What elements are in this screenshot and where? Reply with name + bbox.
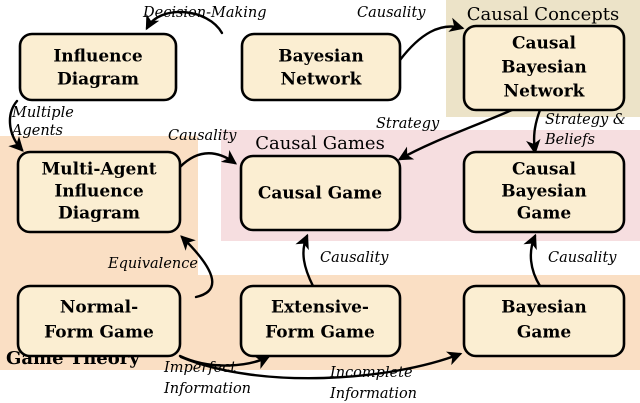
node-causal-game[interactable]: Causal Game [241, 156, 400, 230]
node-bayesian-game-label-1: Bayesian [501, 298, 586, 318]
node-influence-diagram-box[interactable] [20, 34, 176, 100]
edge-label-incomplete-information-1: Incomplete [329, 365, 413, 381]
edge-label-causality-bn-cbn: Causality [357, 5, 426, 21]
node-extensive-form-game-label-2: Form Game [265, 323, 375, 343]
node-normal-form-game[interactable]: Normal- Form Game [18, 286, 180, 356]
diagram-canvas: Causal Concepts Causal Games Game Theory… [0, 0, 640, 403]
node-causal-bayesian-network-label-3: Network [504, 82, 586, 102]
edge-label-causality-efg-cg: Causality [320, 250, 389, 266]
node-multi-agent-influence-diagram-label-2: Influence [54, 182, 144, 202]
node-bayesian-network-label-2: Network [281, 70, 363, 90]
node-influence-diagram[interactable]: Influence Diagram [20, 34, 176, 100]
edge-label-imperfect-information-2: Information [163, 381, 251, 397]
node-influence-diagram-label-1: Influence [53, 47, 143, 67]
node-bayesian-network-label-1: Bayesian [278, 47, 363, 67]
node-bayesian-network[interactable]: Bayesian Network [242, 34, 400, 100]
edge-label-incomplete-information-2: Information [329, 386, 417, 402]
node-causal-game-label-1: Causal Game [258, 184, 382, 204]
node-extensive-form-game[interactable]: Extensive- Form Game [241, 286, 400, 356]
node-multi-agent-influence-diagram[interactable]: Multi-Agent Influence Diagram [18, 152, 180, 232]
node-causal-bayesian-game[interactable]: Causal Bayesian Game [464, 152, 624, 232]
causal-games-diagram: Causal Concepts Causal Games Game Theory… [0, 0, 640, 403]
region-title-causal-games: Causal Games [255, 133, 385, 154]
edge-label-strategy-beliefs-1: Strategy & [545, 112, 626, 128]
node-causal-bayesian-game-label-1: Causal [512, 160, 576, 180]
edge-label-causality-bg-cbg: Causality [548, 250, 617, 266]
node-causal-bayesian-network-label-2: Bayesian [501, 58, 586, 78]
edge-label-decision-making: Decision-Making [142, 5, 267, 21]
node-bayesian-game-label-2: Game [517, 323, 572, 343]
edge-label-multiple-agents-1: Multiple [11, 105, 74, 121]
edge-label-multiple-agents-2: Agents [10, 123, 63, 139]
node-causal-bayesian-network[interactable]: Causal Bayesian Network [464, 26, 624, 110]
node-causal-bayesian-game-label-2: Bayesian [501, 182, 586, 202]
node-normal-form-game-label-1: Normal- [60, 298, 138, 318]
node-extensive-form-game-box[interactable] [241, 286, 400, 356]
edge-label-strategy-beliefs-2: Beliefs [544, 132, 595, 148]
node-bayesian-network-box[interactable] [242, 34, 400, 100]
node-extensive-form-game-label-1: Extensive- [271, 298, 369, 318]
node-bayesian-game-box[interactable] [464, 286, 624, 356]
node-multi-agent-influence-diagram-label-3: Diagram [58, 204, 140, 224]
edge-label-equivalence: Equivalence [107, 256, 198, 272]
node-causal-bayesian-game-label-3: Game [517, 204, 572, 224]
edge-label-causality-maid-cg: Causality [168, 128, 237, 144]
node-normal-form-game-box[interactable] [18, 286, 180, 356]
edge-label-imperfect-information-1: Imperfect [163, 360, 236, 376]
node-influence-diagram-label-2: Diagram [57, 70, 139, 90]
node-multi-agent-influence-diagram-label-1: Multi-Agent [41, 160, 156, 180]
edge-label-strategy: Strategy [376, 116, 440, 132]
node-normal-form-game-label-2: Form Game [44, 323, 154, 343]
node-causal-bayesian-network-label-1: Causal [512, 34, 576, 54]
region-title-causal-concepts: Causal Concepts [467, 4, 619, 25]
node-bayesian-game[interactable]: Bayesian Game [464, 286, 624, 356]
